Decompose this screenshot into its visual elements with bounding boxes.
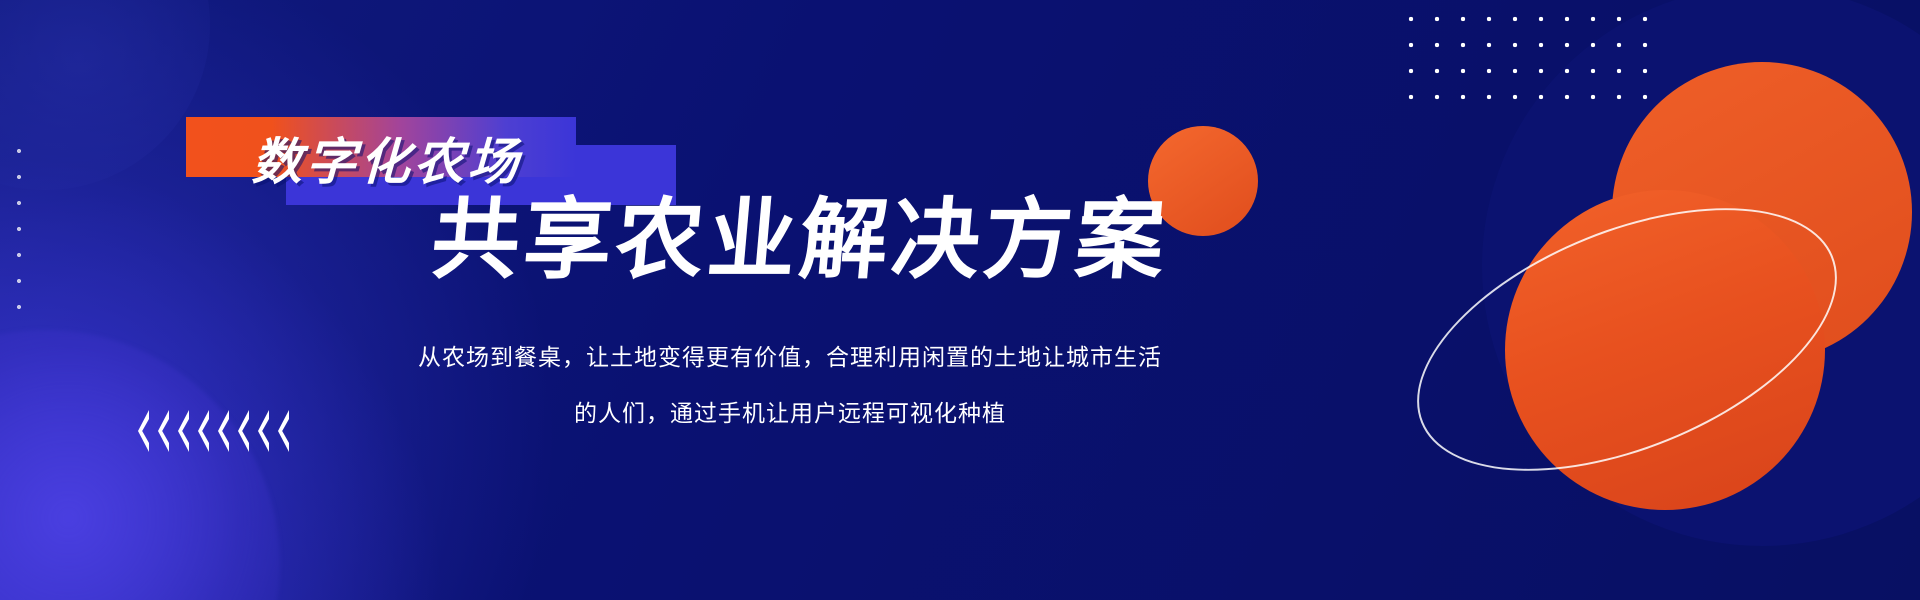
- chevron-left-icon: [236, 410, 254, 452]
- chevron-left-icon: [196, 410, 214, 452]
- chevron-left-icon: [156, 410, 174, 452]
- subtitle-block: 从农场到餐桌，让土地变得更有价值，合理利用闲置的土地让城市生活 的人们，通过手机…: [350, 330, 1230, 442]
- dot-grid-icon: [1398, 6, 1668, 114]
- subtitle-line-1: 从农场到餐桌，让土地变得更有价值，合理利用闲置的土地让城市生活: [350, 330, 1230, 386]
- subtitle-line-2: 的人们，通过手机让用户远程可视化种植: [350, 386, 1230, 442]
- chevron-left-icon: [216, 410, 234, 452]
- chevron-left-icon: [136, 410, 154, 452]
- hero-banner: 数字化农场 共享农业解决方案 从农场到餐桌，让土地变得更有价值，合理利用闲置的土…: [0, 0, 1920, 600]
- chevron-arrows-icon: [136, 410, 294, 452]
- chevron-left-icon: [256, 410, 274, 452]
- chevron-left-icon: [176, 410, 194, 452]
- page-title: 共享农业解决方案: [428, 196, 1172, 284]
- chevron-left-icon: [276, 410, 294, 452]
- dot-column-icon: [16, 138, 22, 328]
